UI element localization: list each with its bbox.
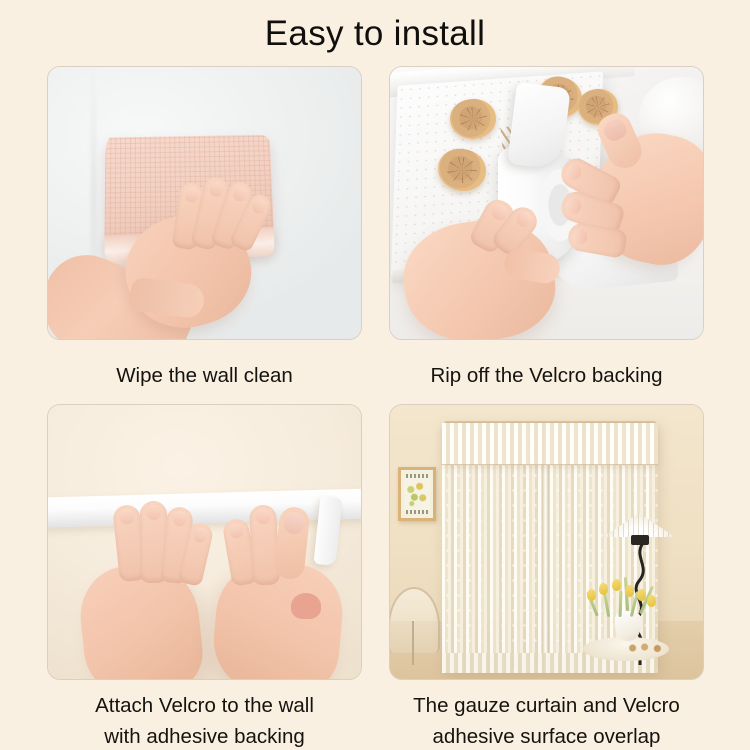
step-card-3: Attach Velcro to the wall with adhesive … (47, 404, 362, 744)
right-hand (569, 107, 704, 287)
tulip-bloom (637, 589, 646, 601)
page-title: Easy to install (0, 12, 750, 56)
tulip-bloom (587, 589, 596, 601)
caption-line: Attach Velcro to the wall (33, 690, 376, 721)
tulip-bloom (612, 579, 621, 591)
stem (619, 591, 623, 617)
curtain-valance (442, 423, 658, 465)
step-card-1: Wipe the wall clean (47, 66, 362, 396)
chair-leg (412, 621, 414, 665)
table-decor (627, 643, 667, 653)
tulip-bloom (647, 595, 656, 607)
caption-line: The gauze curtain and Velcro (375, 690, 718, 721)
caption-line: adhesive surface overlap (375, 721, 718, 750)
instruction-infographic: Easy to install Wipe the wall clean (0, 0, 750, 750)
step-3-photo (47, 404, 362, 680)
step-card-2: Rip off the Velcro backing (389, 66, 704, 396)
right-hand (203, 501, 353, 680)
caption-line: Wipe the wall clean (33, 360, 376, 391)
step-card-4: The gauze curtain and Velcro adhesive su… (389, 404, 704, 744)
hand (70, 171, 290, 340)
caption-line: with adhesive backing (33, 721, 376, 750)
step-3-caption: Attach Velcro to the wall with adhesive … (33, 690, 376, 750)
tulip-bloom (599, 583, 608, 595)
left-hand (389, 193, 576, 340)
step-4-photo (389, 404, 704, 680)
pinch-gap (291, 593, 321, 619)
caption-line: Rip off the Velcro backing (375, 360, 718, 391)
step-2-photo (389, 66, 704, 340)
frame-caption-top (406, 474, 428, 478)
tulip-bloom (625, 585, 634, 597)
step-4-caption: The gauze curtain and Velcro adhesive su… (375, 690, 718, 750)
framed-picture (398, 467, 436, 521)
finger (249, 504, 280, 585)
step-1-photo (47, 66, 362, 340)
tulip-bouquet (585, 573, 663, 619)
step-2-caption: Rip off the Velcro backing (375, 360, 718, 391)
frame-caption-bottom (406, 510, 428, 514)
step-1-caption: Wipe the wall clean (33, 360, 376, 391)
